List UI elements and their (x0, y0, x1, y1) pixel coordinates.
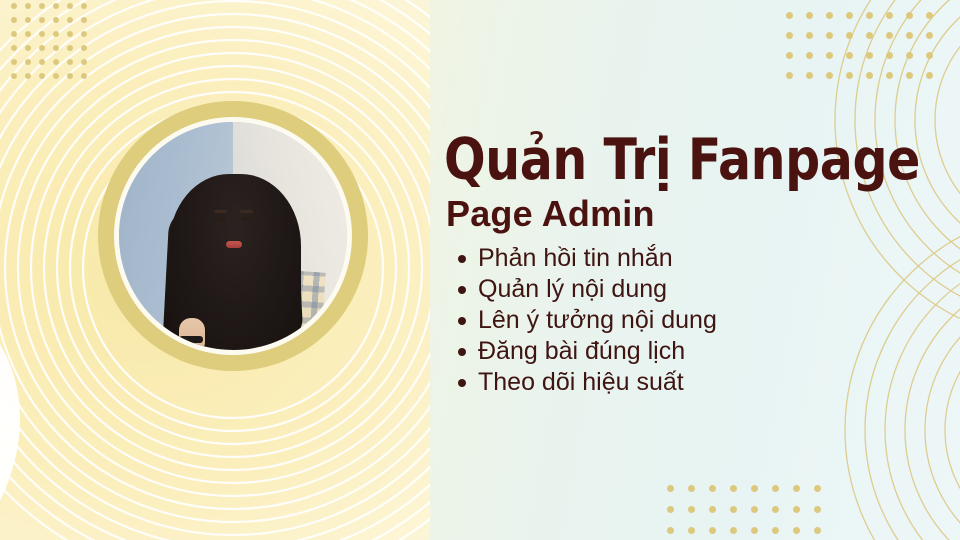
bullet-dot-icon (458, 379, 466, 387)
dot-grid-top-right (786, 12, 946, 92)
list-item: Phản hồi tin nhắn (478, 243, 920, 274)
grid-dot (846, 32, 853, 39)
grid-dot (886, 52, 893, 59)
grid-dot (906, 12, 913, 19)
grid-dot (11, 3, 17, 9)
grid-dot (786, 12, 793, 19)
grid-dot (67, 59, 73, 65)
grid-dot (39, 31, 45, 37)
list-item-label: Quản lý nội dung (478, 275, 667, 303)
grid-dot (25, 45, 31, 51)
grid-dot (53, 73, 59, 79)
grid-dot (886, 12, 893, 19)
photo-eyebrow-left (214, 210, 227, 213)
grid-dot (25, 73, 31, 79)
grid-dot (67, 17, 73, 23)
grid-dot (67, 31, 73, 37)
grid-dot (25, 17, 31, 23)
dot-grid-top-left (11, 3, 95, 87)
list-item-label: Đăng bài đúng lịch (478, 337, 685, 365)
grid-dot (25, 3, 31, 9)
grid-dot (667, 485, 674, 492)
list-item: Đăng bài đúng lịch (478, 336, 920, 367)
slide-canvas: Quản Trị Fanpage Page Admin Phản hồi tin… (0, 0, 960, 540)
bullet-dot-icon (458, 255, 466, 263)
grid-dot (53, 31, 59, 37)
grid-dot (730, 506, 737, 513)
portrait-photo (100, 103, 366, 369)
grid-dot (39, 17, 45, 23)
grid-dot (25, 31, 31, 37)
grid-dot (11, 17, 17, 23)
grid-dot (688, 527, 695, 534)
grid-dot (81, 59, 87, 65)
grid-dot (826, 12, 833, 19)
grid-dot (814, 506, 821, 513)
grid-dot (688, 506, 695, 513)
grid-dot (81, 45, 87, 51)
grid-dot (806, 72, 813, 79)
grid-dot (25, 59, 31, 65)
duty-list: Phản hồi tin nhắnQuản lý nội dungLên ý t… (440, 243, 920, 398)
grid-dot (866, 72, 873, 79)
bullet-dot-icon (458, 317, 466, 325)
grid-dot (730, 527, 737, 534)
list-item-label: Lên ý tưởng nội dung (478, 306, 717, 334)
grid-dot (786, 72, 793, 79)
page-title: Quản Trị Fanpage (444, 132, 853, 189)
grid-dot (751, 527, 758, 534)
grid-dot (39, 3, 45, 9)
grid-dot (906, 52, 913, 59)
grid-dot (688, 485, 695, 492)
grid-dot (926, 72, 933, 79)
grid-dot (786, 32, 793, 39)
grid-dot (709, 485, 716, 492)
list-item-label: Theo dõi hiệu suất (478, 368, 684, 396)
grid-dot (667, 527, 674, 534)
grid-dot (866, 32, 873, 39)
grid-dot (846, 72, 853, 79)
photo-eyebrow-right (240, 210, 253, 213)
grid-dot (81, 3, 87, 9)
grid-dot (11, 59, 17, 65)
grid-dot (814, 527, 821, 534)
grid-dot (730, 485, 737, 492)
bullet-dot-icon (458, 348, 466, 356)
grid-dot (67, 73, 73, 79)
list-item: Lên ý tưởng nội dung (478, 305, 920, 336)
grid-dot (751, 506, 758, 513)
grid-dot (67, 45, 73, 51)
grid-dot (886, 32, 893, 39)
grid-dot (39, 59, 45, 65)
grid-dot (53, 17, 59, 23)
page-subtitle: Page Admin (446, 195, 920, 233)
grid-dot (926, 32, 933, 39)
grid-dot (793, 485, 800, 492)
grid-dot (826, 32, 833, 39)
grid-dot (806, 52, 813, 59)
grid-dot (906, 32, 913, 39)
grid-dot (826, 72, 833, 79)
grid-dot (814, 485, 821, 492)
photo-watch (179, 336, 203, 343)
grid-dot (866, 52, 873, 59)
grid-dot (53, 45, 59, 51)
grid-dot (667, 506, 674, 513)
grid-dot (39, 73, 45, 79)
grid-dot (826, 52, 833, 59)
grid-dot (67, 3, 73, 9)
photo-eye-left (215, 217, 226, 221)
grid-dot (793, 506, 800, 513)
grid-dot (846, 12, 853, 19)
grid-dot (709, 506, 716, 513)
grid-dot (53, 59, 59, 65)
grid-dot (926, 52, 933, 59)
grid-dot (751, 485, 758, 492)
grid-dot (793, 527, 800, 534)
text-column: Quản Trị Fanpage Page Admin Phản hồi tin… (440, 132, 920, 398)
grid-dot (709, 527, 716, 534)
grid-dot (81, 17, 87, 23)
photo-lips (226, 241, 242, 248)
portrait-image (119, 122, 347, 350)
grid-dot (806, 12, 813, 19)
grid-dot (846, 52, 853, 59)
grid-dot (11, 45, 17, 51)
photo-eye-right (241, 217, 252, 221)
grid-dot (81, 31, 87, 37)
grid-dot (772, 506, 779, 513)
list-item-label: Phản hồi tin nhắn (478, 244, 673, 272)
grid-dot (806, 32, 813, 39)
grid-dot (772, 527, 779, 534)
list-item: Quản lý nội dung (478, 274, 920, 305)
grid-dot (772, 485, 779, 492)
grid-dot (53, 3, 59, 9)
list-item: Theo dõi hiệu suất (478, 367, 920, 398)
grid-dot (11, 31, 17, 37)
grid-dot (39, 45, 45, 51)
grid-dot (906, 72, 913, 79)
grid-dot (926, 12, 933, 19)
grid-dot (11, 73, 17, 79)
photo-arm (179, 318, 205, 350)
bullet-dot-icon (458, 286, 466, 294)
dot-grid-bottom-right (667, 485, 835, 540)
grid-dot (886, 72, 893, 79)
grid-dot (786, 52, 793, 59)
grid-dot (866, 12, 873, 19)
grid-dot (81, 73, 87, 79)
